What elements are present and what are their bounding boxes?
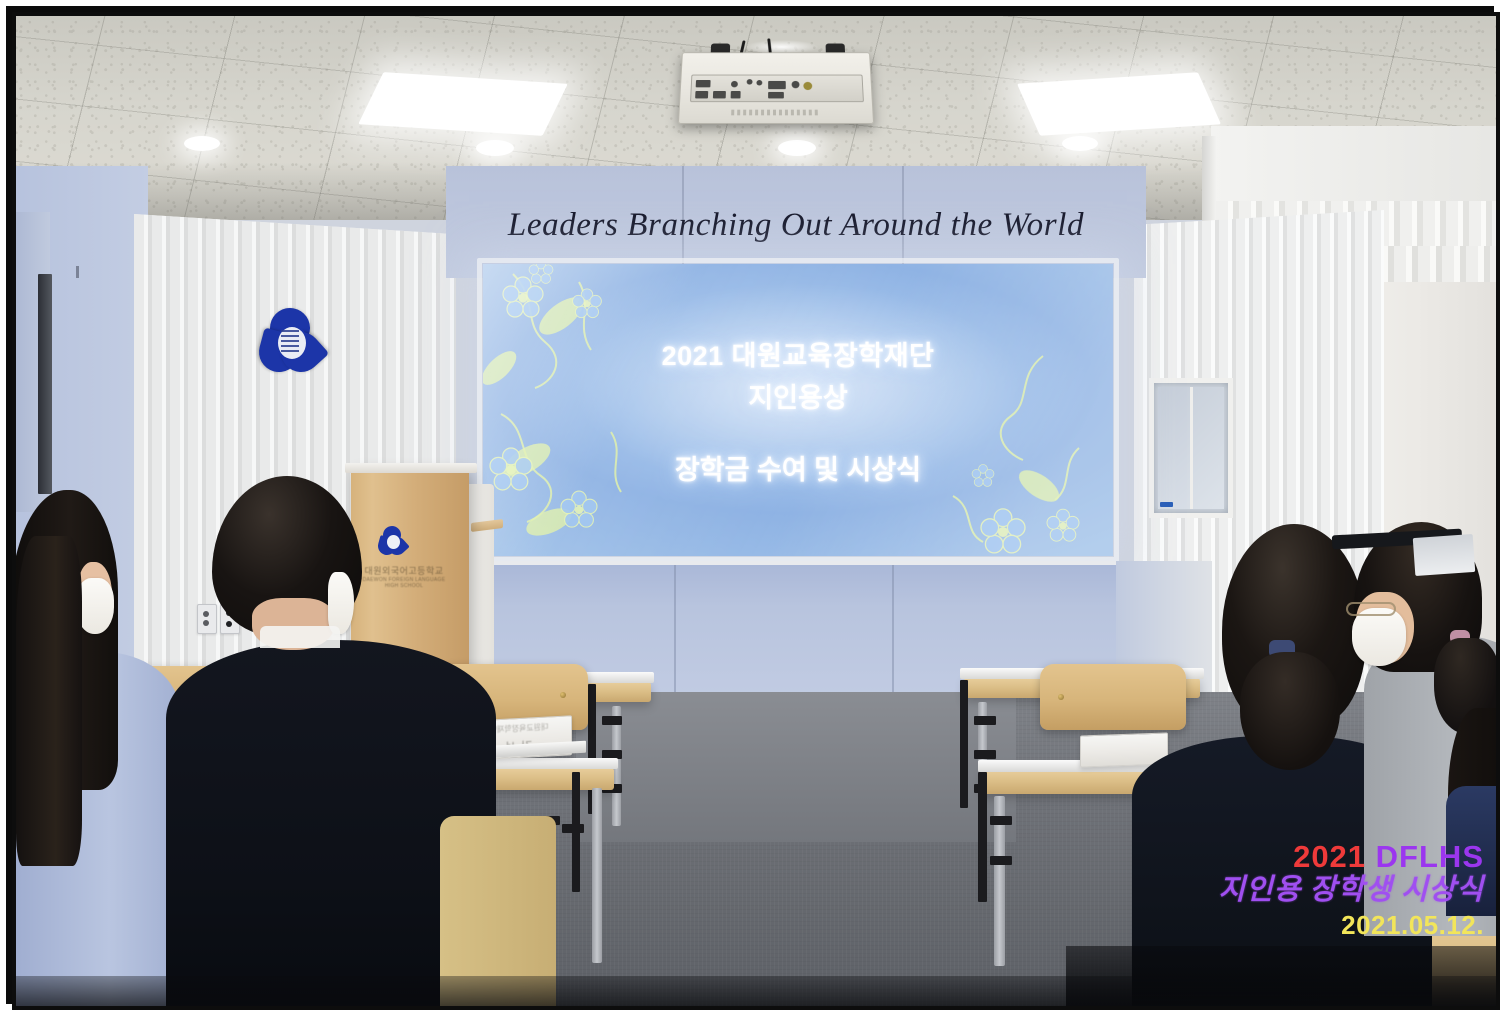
hair-strands (16, 536, 82, 866)
left-wall-dark-strip (38, 274, 52, 494)
projection-screen: 2021 대원교육장학재단 지인용상 장학금 수여 및 시상식 (483, 264, 1113, 556)
watermark-year: 2021 (1293, 839, 1366, 874)
ceiling-projector (678, 37, 872, 122)
paper-sheet (1413, 534, 1476, 576)
ceiling-downlight (1062, 136, 1098, 151)
face-mask (1352, 608, 1406, 666)
eyeglasses (1346, 602, 1396, 616)
projector-body (678, 52, 874, 124)
projector-label (731, 110, 821, 116)
lecture-room-scene: Leaders Branching Out Around the World (16, 16, 1496, 1006)
window-mullion (1190, 387, 1193, 509)
photo-frame-outer: Leaders Branching Out Around the World (0, 0, 1500, 1010)
screen-border (477, 258, 1119, 562)
photo-frame-inner: Leaders Branching Out Around the World (12, 12, 1500, 1010)
wall-banner-text: Leaders Branching Out Around the World (508, 207, 1084, 244)
podium-school-name-kr: 대원외국어고등학교 (364, 566, 443, 576)
watermark-school-code: DFLHS (1376, 839, 1484, 874)
school-crest-icon (259, 308, 321, 374)
floor-aisle (576, 692, 1016, 842)
ponytail (1240, 652, 1340, 770)
wall-outlet (197, 604, 217, 634)
podium-school-name: 대원외국어고등학교 DAEWON FOREIGN LANGUAGE HIGH S… (362, 564, 446, 589)
podium-top-surface (345, 463, 477, 473)
foreground-shadow (16, 976, 1496, 1006)
ceiling-downlight (184, 136, 220, 151)
shirt-collar (260, 626, 340, 648)
watermark-date: 2021.05.12. (1218, 912, 1484, 938)
blue-marker (1160, 502, 1173, 507)
photo-watermark: 2021 DFLHS 지인용 장학생 시상식 2021.05.12. (1218, 841, 1484, 938)
podium-school-name-en: DAEWON FOREIGN LANGUAGE HIGH SCHOOL (362, 577, 446, 589)
photograph: Leaders Branching Out Around the World (0, 0, 1500, 1010)
ceiling-light-panel (1017, 72, 1221, 135)
watermark-caption: 지인용 장학생 시상식 (1218, 876, 1484, 905)
wall-bracket (76, 266, 79, 278)
podium-crest-icon (378, 526, 406, 556)
wall-banner: Leaders Branching Out Around the World (446, 194, 1146, 256)
watermark-line-1: 2021 DFLHS (1218, 841, 1484, 872)
interior-window (1149, 378, 1233, 518)
ceiling-downlight (778, 140, 816, 156)
desk-leg (592, 788, 602, 963)
projector-port-panel (690, 75, 864, 103)
ceiling-downlight (476, 140, 514, 156)
